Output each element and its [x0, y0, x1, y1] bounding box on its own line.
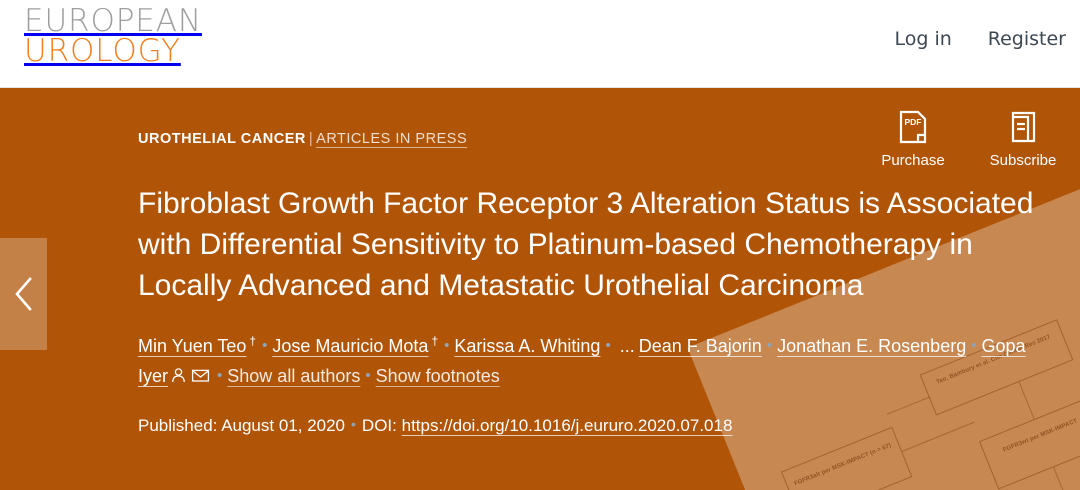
purchase-button[interactable]: PDF Purchase	[880, 110, 946, 169]
subscribe-label: Subscribe	[990, 152, 1057, 169]
logo-text-european: EUROPEAN	[24, 6, 202, 36]
subscribe-button[interactable]: Subscribe	[990, 110, 1056, 169]
envelope-icon[interactable]	[191, 367, 210, 384]
author-link[interactable]: Karissa A. Whiting	[454, 336, 600, 356]
published-label: Published:	[138, 416, 217, 435]
site-logo[interactable]: EUROPEAN UROLOGY	[24, 6, 202, 67]
published-date: August 01, 2020	[221, 416, 345, 435]
hero-actions: PDF Purchase Subscribe	[880, 110, 1056, 169]
doi-label: DOI:	[362, 416, 397, 435]
author-link[interactable]: Jose Mauricio Mota	[272, 336, 428, 356]
header-nav: Log in Register	[894, 28, 1066, 50]
author-separator: •	[600, 337, 615, 354]
author-footnote-marker: †	[428, 334, 439, 348]
hero-content: UROTHELIAL CANCER|ARTICLES IN PRESS PDF …	[138, 88, 1068, 490]
author-separator: •	[257, 337, 272, 354]
chevron-left-icon	[13, 275, 35, 313]
author-link[interactable]: Jonathan E. Rosenberg	[777, 336, 966, 356]
pubinfo-separator: •	[345, 416, 362, 432]
login-link[interactable]: Log in	[894, 28, 951, 50]
author-link[interactable]: Dean F. Bajorin	[639, 336, 762, 356]
authors-ellipsis: ...	[616, 336, 639, 356]
breadcrumb-separator: |	[306, 131, 316, 147]
author-separator: •	[966, 337, 981, 354]
show-footnotes-button[interactable]: Show footnotes	[376, 366, 500, 386]
author-link[interactable]: Min Yuen Teo	[138, 336, 246, 356]
carousel-prev-button[interactable]	[0, 238, 47, 350]
doi-link[interactable]: https://doi.org/10.1016/j.eururo.2020.07…	[402, 416, 733, 435]
purchase-label: Purchase	[881, 152, 944, 169]
article-hero-page: EUROPEAN UROLOGY Log in Register FGFR3al…	[0, 0, 1080, 490]
author-list: Min Yuen Teo†•Jose Mauricio Mota†•Kariss…	[138, 326, 1048, 391]
person-icon[interactable]	[170, 367, 187, 384]
publication-info: Published: August 01, 2020•DOI: https://…	[138, 416, 732, 436]
journal-icon	[1008, 110, 1038, 144]
breadcrumb-category[interactable]: UROTHELIAL CANCER	[138, 131, 306, 147]
article-hero-banner: FGFR3alt per MSK-IMPACT (n = 67) Teo, Ba…	[0, 88, 1080, 490]
site-header: EUROPEAN UROLOGY Log in Register	[0, 0, 1080, 88]
logo-text-urology: UROLOGY	[24, 36, 202, 66]
author-separator: •	[439, 337, 454, 354]
breadcrumb-subcategory[interactable]: ARTICLES IN PRESS	[316, 131, 467, 147]
author-separator: •	[762, 337, 777, 354]
show-all-authors-button[interactable]: Show all authors	[227, 366, 360, 386]
pdf-icon: PDF	[898, 110, 928, 144]
author-separator: •	[212, 367, 227, 384]
breadcrumb: UROTHELIAL CANCER|ARTICLES IN PRESS	[138, 131, 467, 147]
svg-text:PDF: PDF	[905, 117, 922, 127]
article-title: Fibroblast Growth Factor Receptor 3 Alte…	[138, 183, 1043, 306]
author-footnote-marker: †	[246, 334, 257, 348]
author-separator: •	[360, 367, 375, 384]
register-link[interactable]: Register	[988, 28, 1066, 50]
